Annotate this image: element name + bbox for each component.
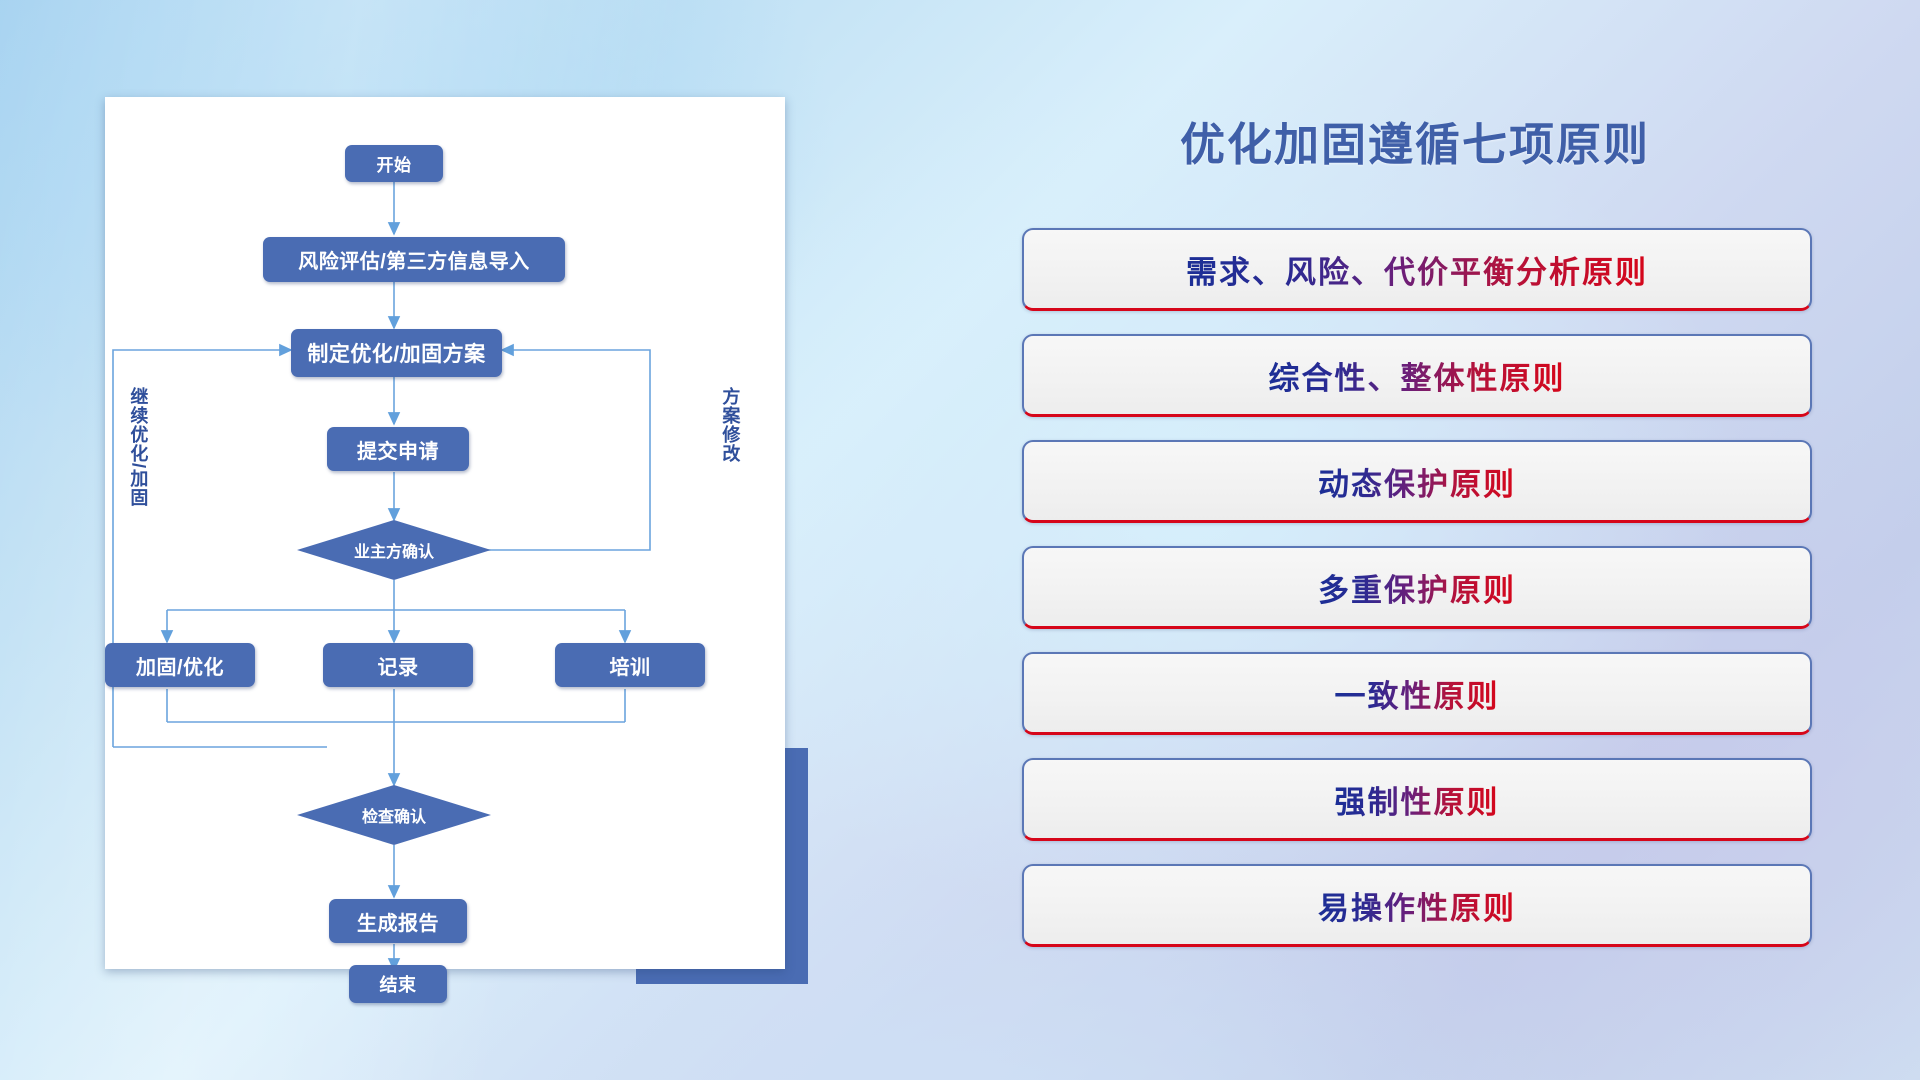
flow-node-risk-assessment-label: 风险评估/第三方信息导入 <box>298 245 530 274</box>
edge-label-plan-revision: 方案修改 <box>721 387 739 463</box>
principle-item-6[interactable]: 强制性原则 <box>1022 758 1812 841</box>
principle-label: 综合性、整体性原则 <box>1269 353 1566 398</box>
flow-node-owner-confirm-label: 业主方确认 <box>354 538 434 562</box>
flow-node-check-confirm-label: 检查确认 <box>362 803 426 827</box>
flow-node-start[interactable]: 开始 <box>345 145 443 182</box>
principle-label: 需求、风险、代价平衡分析原则 <box>1186 247 1648 292</box>
principle-item-2[interactable]: 综合性、整体性原则 <box>1022 334 1812 417</box>
principle-label: 易操作性原则 <box>1318 883 1516 928</box>
flow-node-submit[interactable]: 提交申请 <box>327 427 469 471</box>
flow-node-submit-label: 提交申请 <box>357 435 439 464</box>
principles-list: 需求、风险、代价平衡分析原则 综合性、整体性原则 动态保护原则 多重保护原则 一… <box>1022 228 1812 970</box>
flow-node-record-label: 记录 <box>378 651 419 680</box>
flow-node-training[interactable]: 培训 <box>555 643 705 687</box>
principle-item-1[interactable]: 需求、风险、代价平衡分析原则 <box>1022 228 1812 311</box>
flow-node-training-label: 培训 <box>610 651 651 680</box>
flow-node-plan[interactable]: 制定优化/加固方案 <box>291 329 502 377</box>
principle-item-3[interactable]: 动态保护原则 <box>1022 440 1812 523</box>
principle-label: 强制性原则 <box>1335 777 1500 822</box>
principle-label: 动态保护原则 <box>1318 459 1516 504</box>
principle-item-7[interactable]: 易操作性原则 <box>1022 864 1812 947</box>
flow-node-risk-assessment[interactable]: 风险评估/第三方信息导入 <box>263 237 565 282</box>
flowchart-card: 开始 风险评估/第三方信息导入 制定优化/加固方案 提交申请 业主方确认 加固/… <box>105 97 785 969</box>
flow-node-plan-label: 制定优化/加固方案 <box>307 338 485 368</box>
flow-node-owner-confirm[interactable]: 业主方确认 <box>297 520 491 580</box>
principle-label: 一致性原则 <box>1335 671 1500 716</box>
flow-node-record[interactable]: 记录 <box>323 643 473 687</box>
flow-node-check-confirm[interactable]: 检查确认 <box>297 785 491 845</box>
flow-node-reinforce-label: 加固/优化 <box>136 651 224 680</box>
panel-title: 优化加固遵循七项原则 <box>1020 108 1810 173</box>
flow-node-end[interactable]: 结束 <box>349 965 447 1003</box>
flow-node-report[interactable]: 生成报告 <box>329 899 467 943</box>
flow-node-start-label: 开始 <box>377 151 412 176</box>
principle-label: 多重保护原则 <box>1318 565 1516 610</box>
flow-node-reinforce[interactable]: 加固/优化 <box>105 643 255 687</box>
principle-item-4[interactable]: 多重保护原则 <box>1022 546 1812 629</box>
principle-item-5[interactable]: 一致性原则 <box>1022 652 1812 735</box>
flow-node-end-label: 结束 <box>380 971 417 997</box>
flow-node-report-label: 生成报告 <box>357 907 439 936</box>
edge-label-continue-optimize: 继续优化/加固 <box>129 387 147 507</box>
